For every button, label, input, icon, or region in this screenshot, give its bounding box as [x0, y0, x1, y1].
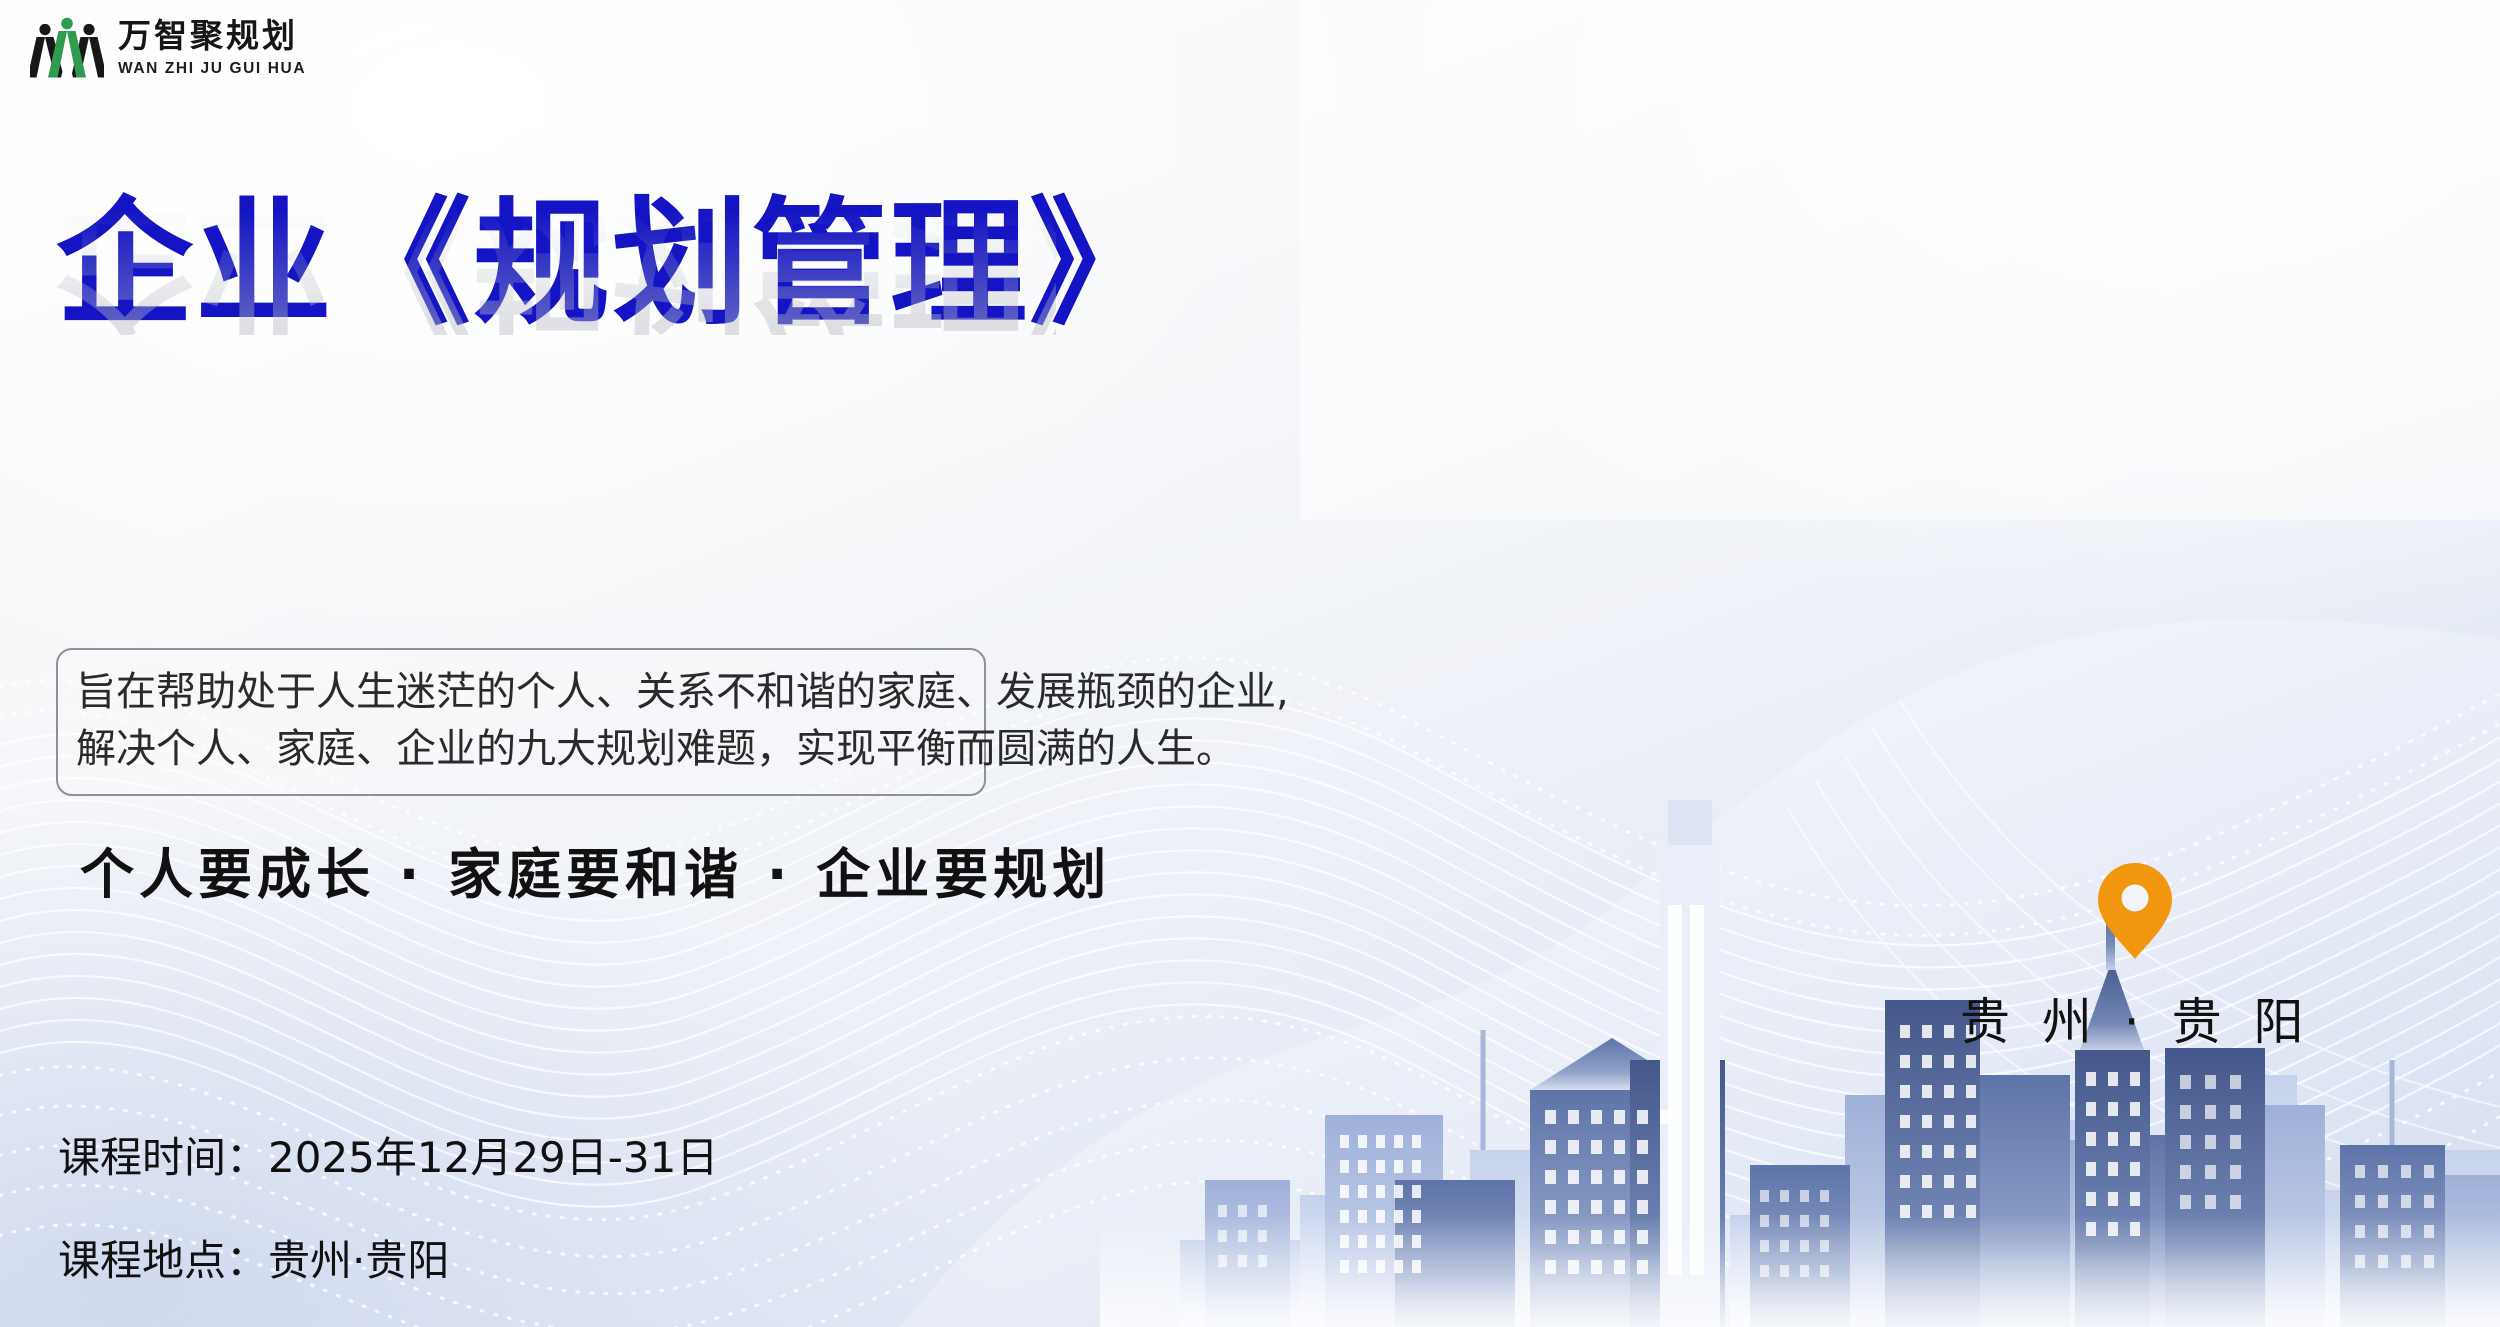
brand-name-cn: 万智聚规划 — [118, 21, 306, 54]
location-block: 贵 州 · 贵 阳 — [1960, 862, 2310, 1054]
description-line-2: 解决个人、家庭、企业的九大规划难题，实现平衡而圆满的人生。 — [76, 721, 966, 778]
brand-name-en: WAN ZHI JU GUI HUA — [118, 61, 306, 77]
course-place: 课程地点：贵州·贵阳 — [58, 1227, 718, 1288]
page-title-reflection: 企业《规划管理》 — [56, 198, 1056, 335]
title-block: 企业《规划管理》 企业《规划管理》 — [56, 196, 1056, 526]
poster-canvas: 万智聚规划 WAN ZHI JU GUI HUA 企业《规划管理》 企业《规划管… — [0, 0, 2500, 1327]
three-people-logo-icon — [30, 14, 104, 84]
brand-logo: 万智聚规划 WAN ZHI JU GUI HUA — [30, 14, 306, 84]
location-city: 贵 州 · 贵 阳 — [1960, 982, 2310, 1054]
description-box: 旨在帮助处于人生迷茫的个人、关系不和谐的家庭、发展瓶颈的企业, 解决个人、家庭、… — [56, 648, 986, 796]
tagline: 个人要成长 · 家庭要和谐 · 企业要规划 — [80, 830, 1111, 909]
map-pin-icon — [2097, 862, 2173, 960]
course-time: 课程时间：2025年12月29日-31日 — [58, 1124, 718, 1185]
description-line-1: 旨在帮助处于人生迷茫的个人、关系不和谐的家庭、发展瓶颈的企业, — [76, 664, 966, 721]
course-info: 课程时间：2025年12月29日-31日 课程地点：贵州·贵阳 — [58, 1124, 718, 1288]
